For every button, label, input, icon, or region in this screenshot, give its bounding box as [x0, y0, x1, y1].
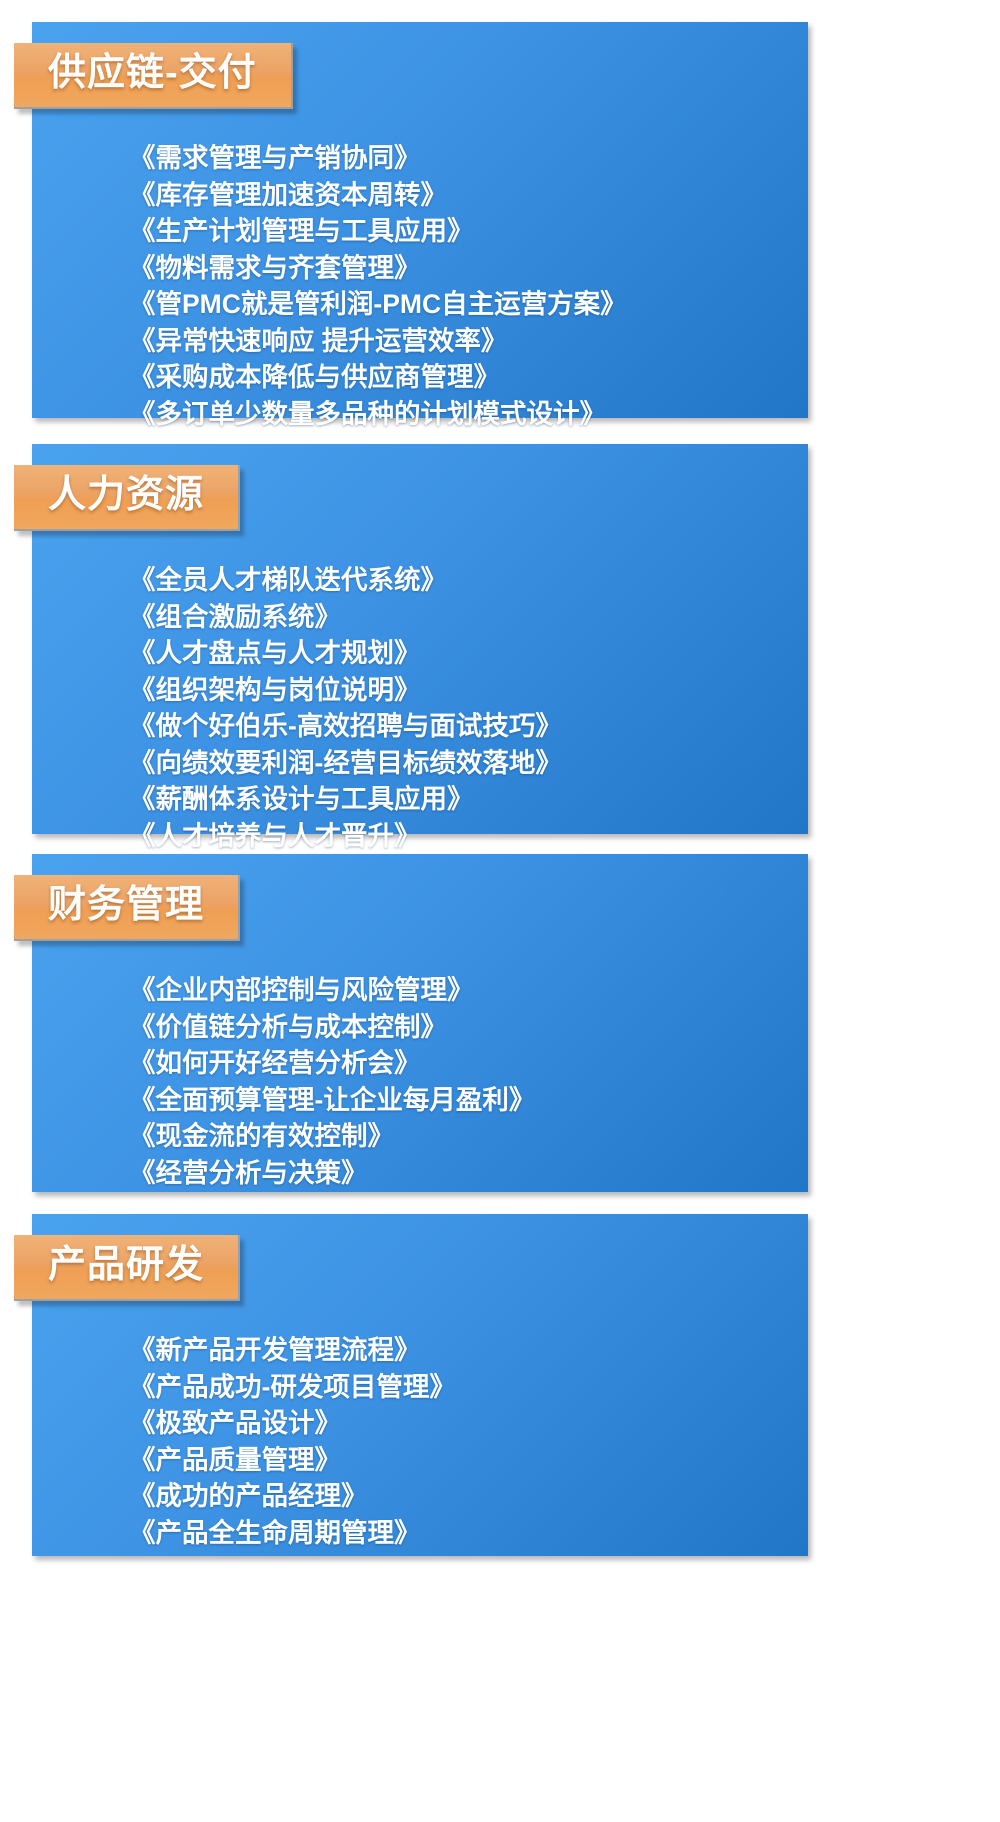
- list-item[interactable]: 《经营分析与决策》: [129, 1155, 788, 1192]
- list-item[interactable]: 《管PMC就是管利润-PMC自主运营方案》: [129, 286, 788, 323]
- list-item[interactable]: 《现金流的有效控制》: [129, 1118, 788, 1155]
- list-item[interactable]: 《全员人才梯队迭代系统》: [129, 562, 788, 599]
- section-title: 供应链-交付: [48, 52, 257, 96]
- section-panel: 人力资源 《全员人才梯队迭代系统》 《组合激励系统》 《人才盘点与人才规划》 《…: [32, 444, 808, 834]
- list-item[interactable]: 《企业内部控制与风险管理》: [129, 972, 788, 1009]
- list-item[interactable]: 《组合激励系统》: [129, 599, 788, 636]
- list-item[interactable]: 《组织架构与岗位说明》: [129, 672, 788, 709]
- list-item[interactable]: 《如何开好经营分析会》: [129, 1045, 788, 1082]
- section-title: 产品研发: [48, 1244, 204, 1288]
- list-item[interactable]: 《产品质量管理》: [129, 1442, 788, 1479]
- section-panel: 供应链-交付 《需求管理与产销协同》 《库存管理加速资本周转》 《生产计划管理与…: [32, 22, 808, 418]
- list-item[interactable]: 《需求管理与产销协同》: [129, 140, 788, 177]
- section-header-tab-shape: 人力资源: [14, 465, 240, 531]
- section-supply-chain: 供应链-交付 《需求管理与产销协同》 《库存管理加速资本周转》 《生产计划管理与…: [0, 22, 1000, 418]
- list-item[interactable]: 《新产品开发管理流程》: [129, 1332, 788, 1369]
- list-item[interactable]: 《生产计划管理与工具应用》: [129, 213, 788, 250]
- section-header-tab-shape: 供应链-交付: [14, 43, 293, 109]
- section-header-tab[interactable]: 供应链-交付: [14, 43, 293, 109]
- section-header-tab-shape: 产品研发: [14, 1235, 240, 1301]
- section-human-resources: 人力资源 《全员人才梯队迭代系统》 《组合激励系统》 《人才盘点与人才规划》 《…: [0, 444, 1000, 834]
- list-item[interactable]: 《多订单少数量多品种的计划模式设计》: [129, 396, 788, 433]
- section-title: 人力资源: [48, 474, 204, 518]
- section-header-tab-shape: 财务管理: [14, 875, 240, 941]
- list-item[interactable]: 《人才培养与人才晋升》: [129, 818, 788, 855]
- list-item[interactable]: 《库存管理加速资本周转》: [129, 177, 788, 214]
- list-item[interactable]: 《采购成本降低与供应商管理》: [129, 359, 788, 396]
- section-header-tab[interactable]: 人力资源: [14, 465, 240, 531]
- section-panel: 产品研发 《新产品开发管理流程》 《产品成功-研发项目管理》 《极致产品设计》 …: [32, 1214, 808, 1556]
- section-product-rnd: 产品研发 《新产品开发管理流程》 《产品成功-研发项目管理》 《极致产品设计》 …: [0, 1214, 1000, 1556]
- section-finance: 财务管理 《企业内部控制与风险管理》 《价值链分析与成本控制》 《如何开好经营分…: [0, 854, 1000, 1192]
- list-item[interactable]: 《向绩效要利润-经营目标绩效落地》: [129, 745, 788, 782]
- list-item[interactable]: 《产品成功-研发项目管理》: [129, 1369, 788, 1406]
- section-panel: 财务管理 《企业内部控制与风险管理》 《价值链分析与成本控制》 《如何开好经营分…: [32, 854, 808, 1192]
- list-item[interactable]: 《全面预算管理-让企业每月盈利》: [129, 1082, 788, 1119]
- list-item[interactable]: 《异常快速响应 提升运营效率》: [129, 323, 788, 360]
- course-catalog-page: 供应链-交付 《需求管理与产销协同》 《库存管理加速资本周转》 《生产计划管理与…: [0, 0, 1000, 1822]
- list-item[interactable]: 《人才盘点与人才规划》: [129, 635, 788, 672]
- list-item[interactable]: 《薪酬体系设计与工具应用》: [129, 781, 788, 818]
- section-title: 财务管理: [48, 884, 204, 928]
- section-header-tab[interactable]: 产品研发: [14, 1235, 240, 1301]
- list-item[interactable]: 《成功的产品经理》: [129, 1478, 788, 1515]
- list-item[interactable]: 《产品全生命周期管理》: [129, 1515, 788, 1552]
- list-item[interactable]: 《价值链分析与成本控制》: [129, 1009, 788, 1046]
- list-item[interactable]: 《极致产品设计》: [129, 1405, 788, 1442]
- list-item[interactable]: 《物料需求与齐套管理》: [129, 250, 788, 287]
- section-header-tab[interactable]: 财务管理: [14, 875, 240, 941]
- list-item[interactable]: 《做个好伯乐-高效招聘与面试技巧》: [129, 708, 788, 745]
